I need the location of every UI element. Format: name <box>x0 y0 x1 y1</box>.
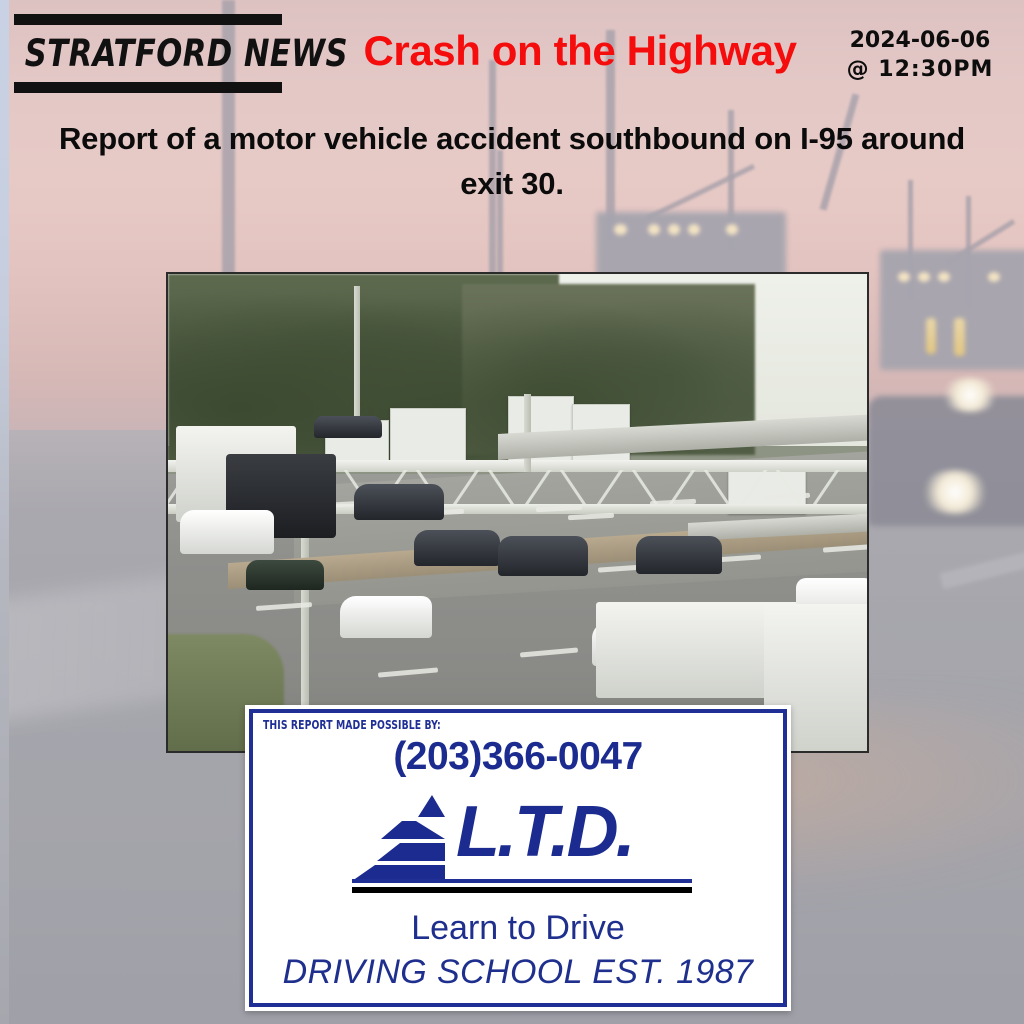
background-headlight <box>940 378 1000 412</box>
background-signal-light <box>954 318 965 356</box>
ltd-wedge-icon <box>344 795 456 881</box>
news-alert-graphic: STRATFORD NEWS Crash on the Highway 2024… <box>0 0 1024 1024</box>
masthead-brand: STRATFORD NEWS <box>25 29 272 79</box>
background-marker-light <box>614 224 627 235</box>
background-marker-light <box>668 224 680 235</box>
camera-vehicle-car-white <box>180 510 274 554</box>
background-signal-light <box>926 318 936 354</box>
background-marker-light <box>988 272 1000 282</box>
masthead: STRATFORD NEWS <box>14 14 282 93</box>
camera-light-pole <box>354 286 360 426</box>
sponsor-logo-rule-black <box>352 887 692 893</box>
masthead-rule-top <box>14 14 282 25</box>
camera-vehicle-car-white <box>340 596 432 638</box>
background-truck <box>880 250 1024 370</box>
camera-vehicle-car-dark <box>498 536 588 576</box>
background-marker-light <box>918 272 930 282</box>
sponsor-logo-rule-blue <box>352 879 692 883</box>
camera-vehicle-car-dark <box>414 530 500 566</box>
background-marker-light <box>726 224 738 235</box>
sponsor-logo-text: L.T.D. <box>456 789 633 875</box>
background-marker-light <box>898 272 910 282</box>
sponsor-logo: L.T.D. <box>253 791 783 899</box>
background-marker-light <box>688 224 700 235</box>
sponsor-ad-inner-border: THIS REPORT MADE POSSIBLE BY: (203)366-0… <box>249 709 787 1007</box>
background-marker-light <box>648 224 660 235</box>
camera-vehicle-car-dark <box>246 560 324 590</box>
background-headlight <box>920 470 990 514</box>
sponsor-phone-number[interactable]: (203)366-0047 <box>253 735 783 779</box>
camera-highway-sign <box>390 408 466 468</box>
sponsor-subtitle: DRIVING SCHOOL EST. 1987 <box>253 953 783 992</box>
timestamp-time: @ 12:30PM <box>830 55 1010 84</box>
sponsor-tagline: THIS REPORT MADE POSSIBLE BY: <box>263 718 441 732</box>
camera-vehicle-car-dark <box>636 536 722 574</box>
background-left-edge <box>0 0 9 1024</box>
camera-vehicle-car-dark <box>314 416 382 438</box>
masthead-rule-bottom <box>14 82 282 93</box>
camera-vehicle-car-dark <box>354 484 444 520</box>
page-title: Crash on the Highway <box>330 27 830 75</box>
timestamp-date: 2024-06-06 <box>830 26 1010 55</box>
report-text: Report of a motor vehicle accident south… <box>52 116 972 206</box>
timestamp: 2024-06-06 @ 12:30PM <box>830 26 1010 84</box>
sponsor-slogan: Learn to Drive <box>253 909 783 948</box>
background-marker-light <box>938 272 950 282</box>
traffic-camera-image <box>166 272 869 753</box>
sponsor-ad-card[interactable]: THIS REPORT MADE POSSIBLE BY: (203)366-0… <box>245 705 791 1011</box>
